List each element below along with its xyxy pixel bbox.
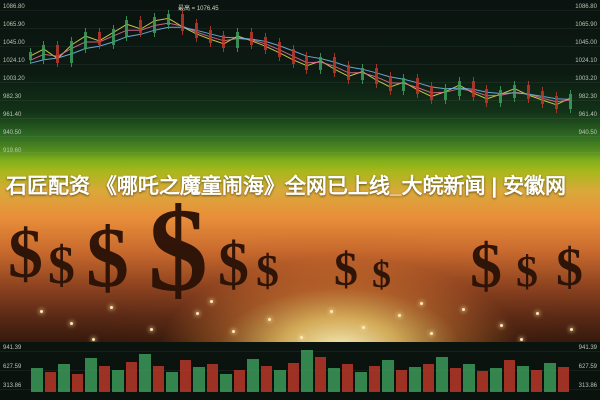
candlestick <box>278 42 281 57</box>
sparkle-dot <box>430 332 433 335</box>
candlestick <box>125 20 128 36</box>
candlestick <box>195 23 198 38</box>
dollar-sign-silhouette: $ <box>8 220 43 290</box>
volume-bar <box>328 368 340 392</box>
volume-bar <box>112 370 124 392</box>
volume-bar <box>72 374 84 392</box>
candlestick-wick <box>334 53 335 77</box>
volume-bar <box>396 370 408 392</box>
volume-bar <box>355 372 367 392</box>
candlestick-wick <box>182 10 183 34</box>
candlestick <box>70 41 73 63</box>
candlestick-wick <box>43 41 44 64</box>
candlestick <box>416 78 419 94</box>
candlestick-wick <box>417 74 418 98</box>
bottom-chart-region: 941.39 627.59 313.86 941.39 627.59 313.8… <box>0 342 600 400</box>
candlestick <box>222 35 225 48</box>
sparkle-dot <box>210 300 213 303</box>
dollar-sign-silhouette: $ <box>86 214 129 300</box>
volume-bar <box>126 362 138 392</box>
candlestick <box>402 78 405 91</box>
dollar-sign-silhouette: $ <box>48 238 75 292</box>
candlestick <box>209 30 212 43</box>
volume-bar <box>220 374 232 392</box>
candlestick-wick <box>293 45 294 68</box>
sparkle-dot <box>92 338 95 341</box>
candlestick <box>347 65 350 80</box>
candlestick-wick <box>473 77 474 101</box>
top-chart-lines <box>0 0 600 160</box>
sparkle-dot <box>462 308 465 311</box>
candlestick <box>42 45 45 60</box>
volume-bar <box>531 370 543 392</box>
candlestick-wick <box>514 81 515 102</box>
volume-bar <box>45 372 57 392</box>
volume-bar <box>490 368 502 392</box>
candlestick-wick <box>251 28 252 49</box>
dollar-sign-silhouette: $ <box>516 250 538 294</box>
candlestick <box>499 90 502 103</box>
candlestick-wick <box>99 28 100 49</box>
candlestick <box>56 45 59 62</box>
sparkle-dot <box>570 328 573 331</box>
candlestick-wick <box>556 92 557 113</box>
volume-bar <box>409 367 421 392</box>
candlestick <box>139 20 142 33</box>
volume-bar <box>517 366 529 392</box>
candlestick-wick <box>265 33 266 54</box>
candlestick-wick <box>431 82 432 105</box>
candlestick <box>527 85 530 100</box>
dollar-sign-silhouette: $ <box>470 234 502 298</box>
candlestick-wick <box>376 64 377 88</box>
dollar-sign-silhouette: $ <box>372 256 391 294</box>
volume-bar <box>139 354 151 392</box>
candlestick <box>305 56 308 70</box>
volume-bar <box>99 366 111 392</box>
top-chart-region: 1086.80 1065.90 1045.00 1024.10 1003.20 … <box>0 0 600 160</box>
sparkle-dot <box>520 338 523 341</box>
candlestick-wick <box>71 37 72 67</box>
volume-bar <box>153 366 165 392</box>
bottom-right-tick-2: 313.86 <box>579 383 597 389</box>
candlestick <box>167 14 170 24</box>
volume-bar <box>274 370 286 392</box>
candlestick-wick <box>459 77 460 100</box>
candlestick-wick <box>362 64 363 85</box>
candlestick <box>250 32 253 45</box>
volume-bar <box>382 360 394 392</box>
candlestick <box>333 57 336 73</box>
volume-bar <box>288 363 300 392</box>
candlestick-wick <box>154 13 155 37</box>
volume-bar <box>31 368 43 392</box>
volume-bar <box>423 364 435 392</box>
candlestick-wick <box>390 72 391 95</box>
candlestick-wick <box>57 41 58 66</box>
candlestick <box>319 57 322 70</box>
candlestick-wick <box>528 81 529 104</box>
candlestick <box>153 17 156 33</box>
candlestick-wick <box>320 53 321 74</box>
volume-bar <box>234 370 246 392</box>
candlestick <box>389 76 392 91</box>
volume-bar <box>436 357 448 392</box>
volume-bar <box>477 371 489 392</box>
candlestick <box>458 81 461 96</box>
candlestick <box>569 94 572 109</box>
volume-bar <box>180 360 192 392</box>
screenshot-root: 1086.80 1065.90 1045.00 1024.10 1003.20 … <box>0 0 600 400</box>
bottom-right-tick-1: 627.59 <box>579 364 597 370</box>
bottom-left-tick-0: 941.39 <box>3 345 21 351</box>
candlestick-wick <box>196 19 197 42</box>
candlestick-wick <box>237 28 238 52</box>
candlestick <box>555 96 558 109</box>
candlestick-wick <box>348 61 349 84</box>
volume-bar <box>166 372 178 392</box>
sparkle-dot <box>500 324 503 327</box>
candlestick-wick <box>85 28 86 53</box>
volume-bar <box>315 357 327 392</box>
candlestick <box>472 81 475 97</box>
candlestick <box>292 49 295 64</box>
sparkle-dot <box>300 336 303 339</box>
sparkle-dot <box>196 312 199 315</box>
candlestick-wick <box>223 31 224 52</box>
sparkle-dot <box>268 318 271 321</box>
dollar-sign-silhouette: $ <box>256 248 279 294</box>
candlestick-wick <box>570 90 571 113</box>
candlestick <box>236 32 239 48</box>
candlestick-wick <box>542 87 543 108</box>
candlestick <box>444 88 447 101</box>
candlestick <box>29 52 32 60</box>
candlestick <box>485 89 488 103</box>
candlestick-wick <box>140 16 141 37</box>
sparkle-dot <box>362 326 365 329</box>
sparkle-dot <box>110 306 113 309</box>
candlestick <box>112 29 115 45</box>
candlestick <box>513 85 516 98</box>
volume-bar <box>193 367 205 392</box>
candlestick <box>98 32 101 45</box>
sparkle-dot <box>40 310 43 313</box>
candlestick <box>181 14 184 30</box>
sparkle-dot <box>398 314 401 317</box>
volume-bar <box>342 364 354 392</box>
candlestick-wick <box>210 26 211 47</box>
volume-bar <box>369 366 381 392</box>
bottom-left-tick-1: 627.59 <box>3 364 21 370</box>
sparkle-dot <box>150 328 153 331</box>
candlestick-wick <box>126 16 127 40</box>
candlestick-wick <box>168 10 169 28</box>
volume-bar <box>558 367 570 392</box>
candlestick <box>375 68 378 84</box>
volume-bar <box>58 364 70 392</box>
candlestick-wick <box>113 25 114 49</box>
sparkle-dot <box>232 330 235 333</box>
volume-bar <box>261 366 273 392</box>
sparkle-dot <box>536 312 539 315</box>
candlestick <box>361 68 364 81</box>
candlestick-wick <box>403 74 404 95</box>
candlestick <box>84 32 87 49</box>
volume-bar <box>207 364 219 392</box>
candlestick-wick <box>279 38 280 61</box>
volume-bar <box>544 363 556 392</box>
candlestick-wick <box>486 85 487 107</box>
volume-bar <box>463 364 475 392</box>
candlestick-wick <box>500 86 501 107</box>
candlestick-wick <box>30 48 31 64</box>
volume-bar <box>85 358 97 392</box>
candlestick-wick <box>445 84 446 105</box>
sparkle-dot <box>420 302 423 305</box>
volume-bar <box>301 350 313 392</box>
volume-bar <box>450 368 462 392</box>
sparkle-dot <box>330 310 333 313</box>
candlestick <box>264 37 267 50</box>
dollar-sign-silhouette: $ <box>218 234 249 296</box>
volume-bar <box>504 360 516 392</box>
headline-text: 石匠配资 《哪吒之魔童闹海》全网已上线_大皖新闻 | 安徽网 <box>0 165 600 210</box>
dollar-sign-silhouette: $ <box>556 240 583 294</box>
candlestick <box>541 91 544 104</box>
dollar-sign-silhouette: $ <box>334 246 358 294</box>
bottom-left-tick-2: 313.86 <box>3 383 21 389</box>
volume-bar <box>247 359 259 392</box>
candlestick <box>430 86 433 101</box>
sparkle-dot <box>70 322 73 325</box>
candlestick-wick <box>306 52 307 74</box>
bottom-right-tick-0: 941.39 <box>579 345 597 351</box>
